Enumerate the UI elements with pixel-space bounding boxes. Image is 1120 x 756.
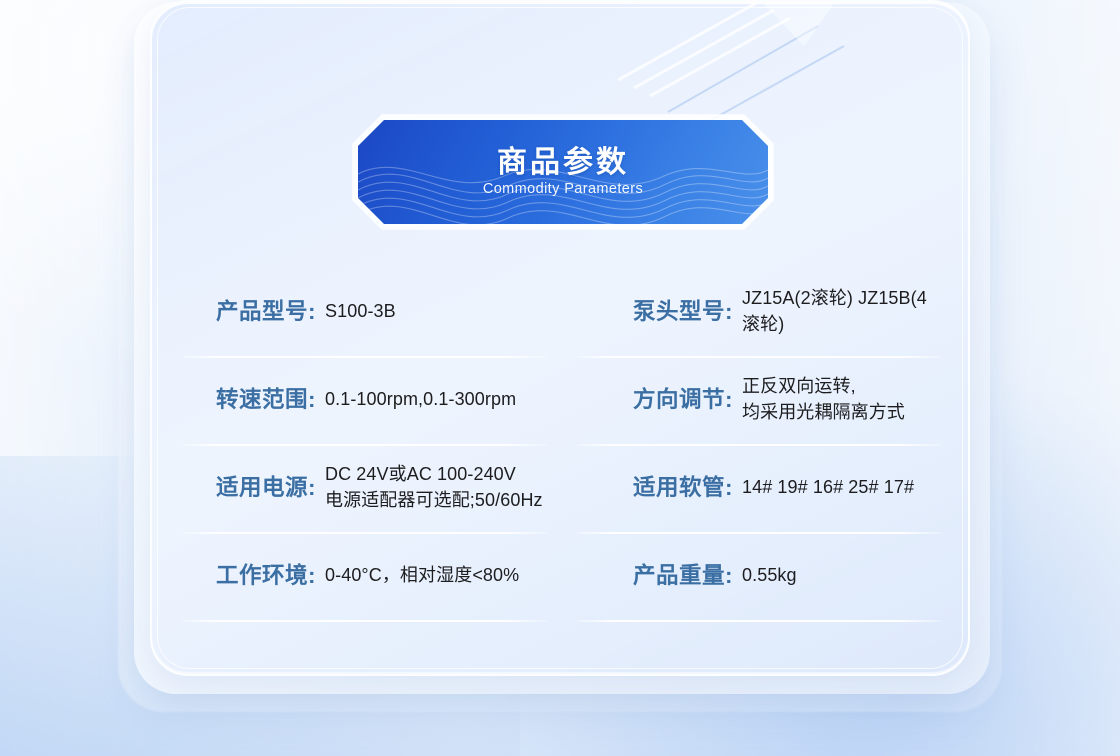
product-spec-page: 商品参数 Commodity Parameters 产品型号: S100-3B …: [0, 0, 1120, 756]
spec-value: JZ15A(2滚轮) JZ15B(4滚轮): [742, 286, 944, 337]
spec-label: 产品重量:: [597, 562, 733, 590]
spec-label: 适用软管:: [597, 474, 733, 502]
banner-text-group: 商品参数 Commodity Parameters: [358, 120, 768, 224]
spec-label: 泵头型号:: [597, 298, 733, 326]
spec-label: 工作环境:: [180, 562, 316, 590]
banner-title-english: Commodity Parameters: [483, 181, 643, 198]
spec-label: 适用电源:: [180, 474, 316, 502]
spec-row: 工作环境: 0-40°C，相对湿度<80%: [180, 534, 549, 622]
spec-value: 0-40°C，相对湿度<80%: [325, 563, 549, 589]
spec-value: DC 24V或AC 100-240V 电源适配器可选配;50/60Hz: [325, 462, 549, 513]
spec-row: 适用软管: 14# 19# 16# 25# 17#: [575, 446, 944, 534]
spec-row: 产品重量: 0.55kg: [575, 534, 944, 622]
spec-row: 适用电源: DC 24V或AC 100-240V 电源适配器可选配;50/60H…: [180, 446, 549, 534]
spec-value: 正反双向运转, 均采用光耦隔离方式: [742, 374, 944, 425]
spec-label: 方向调节:: [597, 386, 733, 414]
spec-row: 产品型号: S100-3B: [180, 270, 549, 358]
spec-value: S100-3B: [325, 299, 549, 325]
spec-label: 转速范围:: [180, 386, 316, 414]
specification-grid: 产品型号: S100-3B 泵头型号: JZ15A(2滚轮) JZ15B(4滚轮…: [180, 270, 944, 622]
banner-title-chinese: 商品参数: [497, 146, 629, 179]
spec-value: 14# 19# 16# 25# 17#: [742, 475, 944, 501]
spec-row: 方向调节: 正反双向运转, 均采用光耦隔离方式: [575, 358, 944, 446]
spec-value: 0.55kg: [742, 563, 944, 589]
spec-card: 商品参数 Commodity Parameters 产品型号: S100-3B …: [150, 0, 970, 676]
spec-label: 产品型号:: [180, 298, 316, 326]
spec-row: 泵头型号: JZ15A(2滚轮) JZ15B(4滚轮): [575, 270, 944, 358]
section-title-banner: 商品参数 Commodity Parameters: [358, 120, 768, 224]
spec-value: 0.1-100rpm,0.1-300rpm: [325, 387, 549, 413]
spec-row: 转速范围: 0.1-100rpm,0.1-300rpm: [180, 358, 549, 446]
